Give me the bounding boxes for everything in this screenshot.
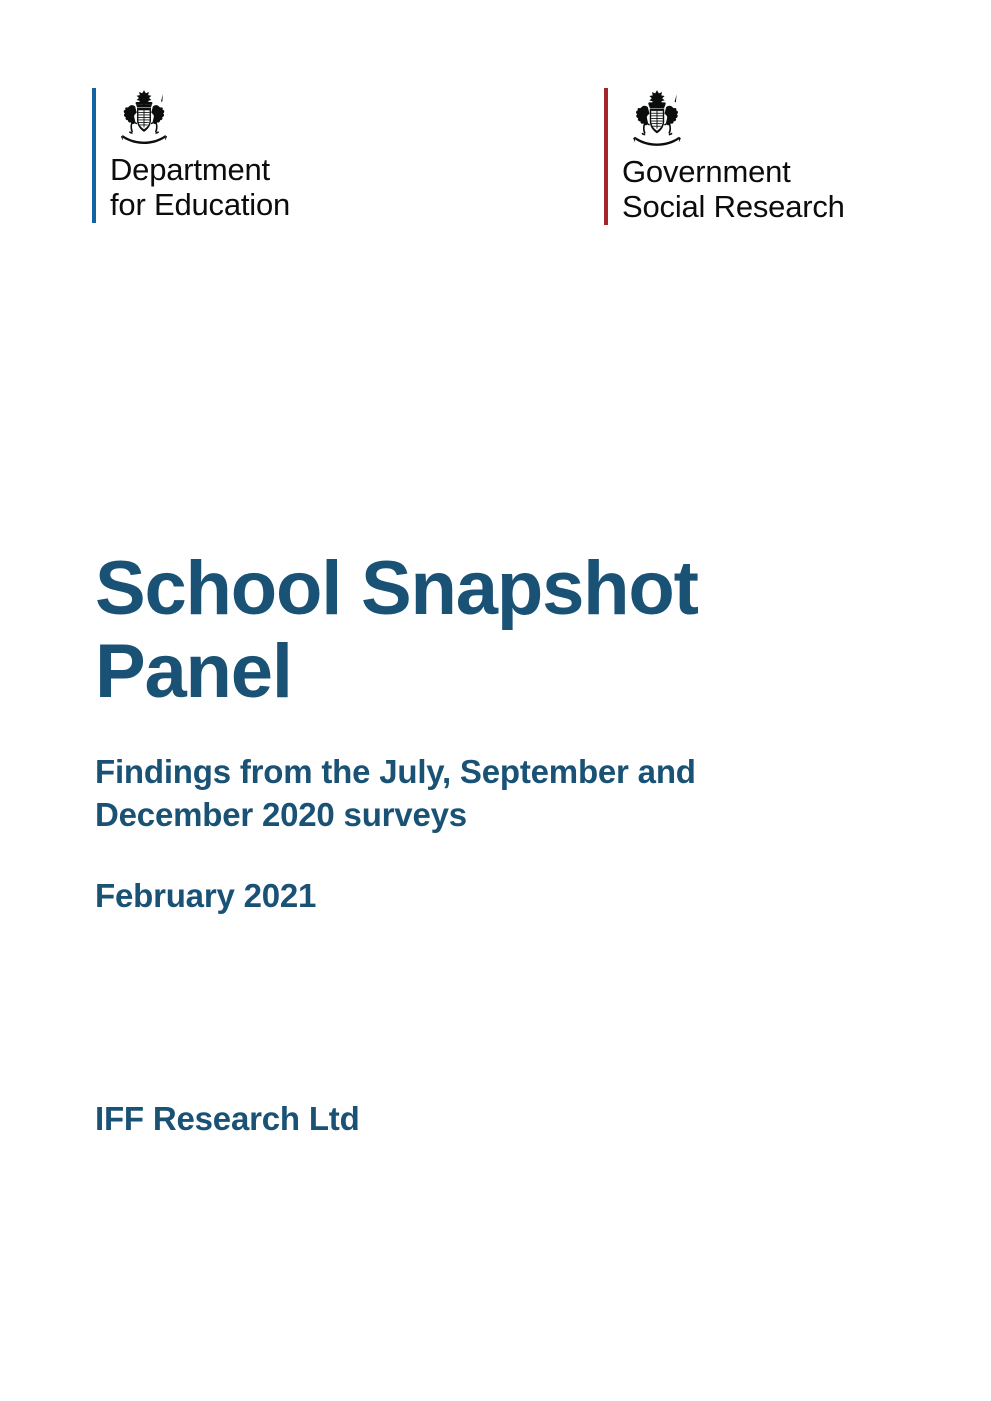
gsr-logo: Government Social Research <box>604 88 845 225</box>
royal-coat-of-arms-icon <box>622 88 692 148</box>
dfe-logo-body: Department for Education <box>110 88 290 223</box>
gsr-logo-line1: Government <box>622 154 845 189</box>
document-author: IFF Research Ltd <box>95 1098 360 1141</box>
royal-coat-of-arms-icon <box>110 88 178 146</box>
dfe-logo-text: Department for Education <box>110 152 290 223</box>
gsr-logo-text: Government Social Research <box>622 154 845 225</box>
dfe-logo-line2: for Education <box>110 187 290 222</box>
logo-band: Department for Education <box>0 88 991 228</box>
dfe-logo: Department for Education <box>92 88 290 223</box>
document-date: February 2021 <box>95 875 895 918</box>
dfe-accent-rule <box>92 88 96 223</box>
dfe-logo-line1: Department <box>110 152 290 187</box>
page-title: School Snapshot Panel <box>95 548 735 714</box>
gsr-logo-body: Government Social Research <box>622 88 845 225</box>
document-subtitle: Findings from the July, September and De… <box>95 750 855 837</box>
title-block: School Snapshot Panel Findings from the … <box>95 548 895 918</box>
gsr-logo-line2: Social Research <box>622 189 845 224</box>
document-cover-page: Department for Education <box>0 0 991 1401</box>
gsr-accent-rule <box>604 88 608 225</box>
